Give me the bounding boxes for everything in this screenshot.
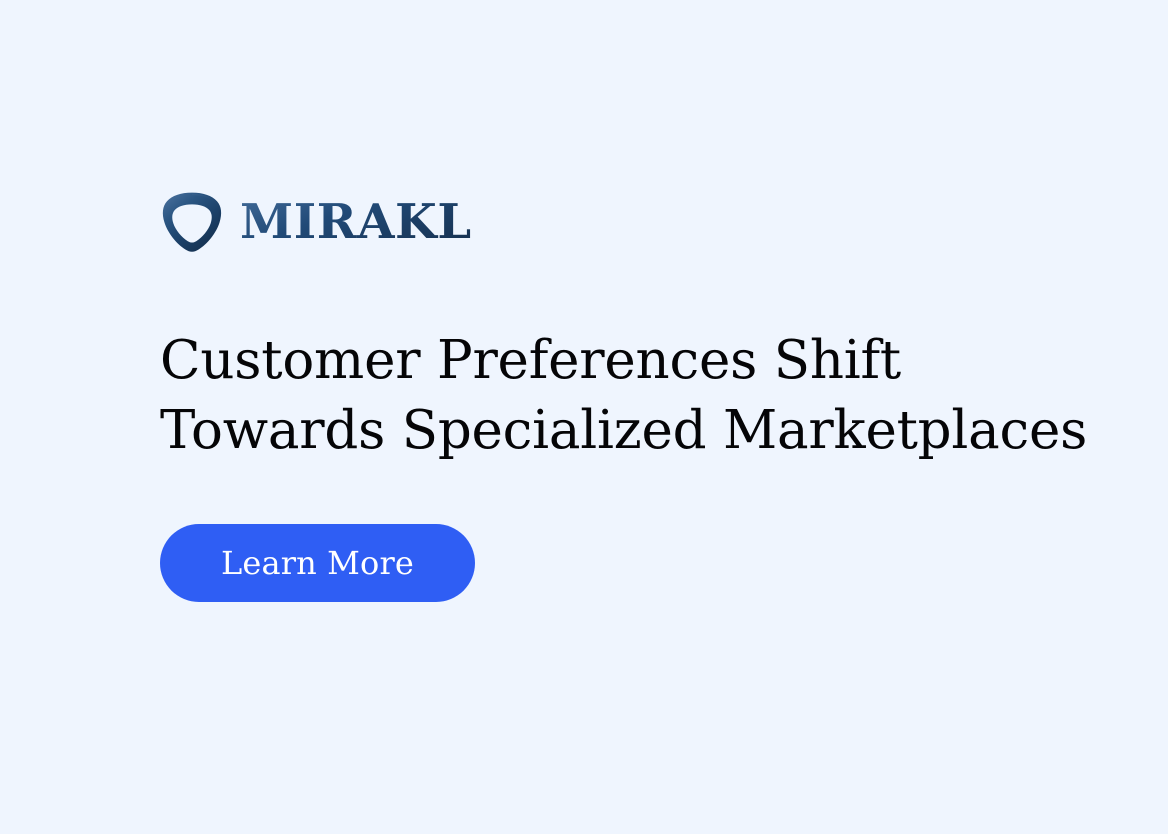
cta-wrap: Learn More [160,524,1120,602]
mirakl-shield-icon [160,190,224,254]
brand-lockup: MIRAKL [160,186,1120,258]
brand-wordmark: MIRAKL [240,198,476,246]
page-title: Customer Preferences Shift Towards Speci… [160,326,1090,466]
learn-more-button[interactable]: Learn More [160,524,475,602]
content-stack: MIRAKL Customer Preferences Shift Toward… [160,186,1120,602]
promo-card: MIRAKL Customer Preferences Shift Toward… [0,0,1168,834]
